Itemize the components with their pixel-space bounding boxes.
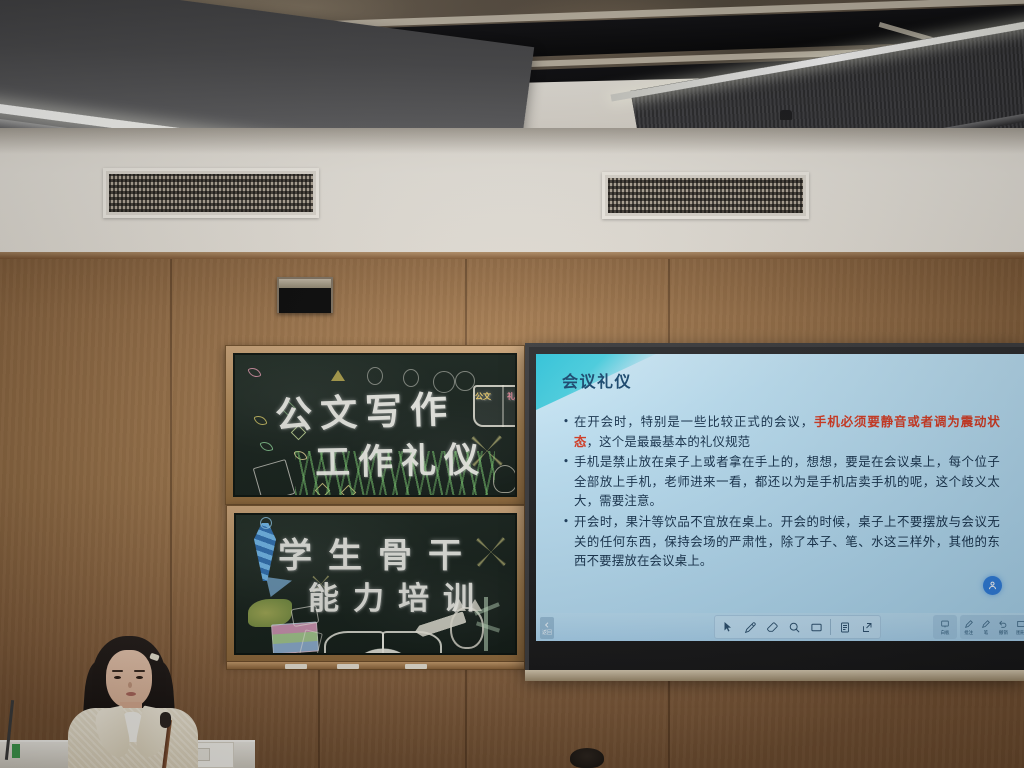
vent-grille — [608, 178, 803, 213]
list-item: • 开会时，果汁等饮品不宜放在桌上。开会的时候，桌子上不要摆放与会议无关的任何东… — [558, 512, 1000, 571]
annotate-icon — [964, 619, 974, 629]
bullet-text-1: 在开会时，特别是一些比较正式的会议，手机必须要静音或者调为震动状态，这个是最最基… — [574, 412, 1000, 451]
chalk-tray — [226, 661, 525, 670]
shape-icon — [1016, 619, 1024, 629]
pen2-tool[interactable]: 笔 — [977, 615, 994, 639]
page-icon — [839, 621, 851, 634]
toolbar-back-label: 返回 — [542, 629, 552, 636]
toolbar-mode-group[interactable]: 白板 — [933, 615, 957, 639]
chalkboard-bottom-line1: 学生骨干 — [278, 528, 478, 577]
toolbar-annotation-group[interactable]: 批注 笔 撤销 图形 清 — [960, 615, 1024, 639]
pen-icon — [744, 621, 757, 634]
bullet-marker: • — [558, 512, 574, 532]
wall-mounted-speaker — [277, 277, 333, 313]
balloon-doodle — [455, 371, 475, 391]
pen2-label: 笔 — [984, 630, 988, 636]
shape-label: 图形 — [1016, 630, 1024, 636]
assistant-person-icon — [987, 580, 998, 591]
whiteboard-bottom-rail — [525, 670, 1024, 681]
cursor-tool[interactable] — [717, 616, 739, 638]
student-presenter — [62, 636, 202, 768]
list-item: • 手机是禁止放在桌子上或者拿在手上的，想想，要是在会议桌上，每个位子全部放上手… — [558, 452, 1000, 511]
spotlight-tool[interactable] — [805, 616, 827, 638]
whiteboard-icon — [940, 619, 950, 629]
annotate-tool[interactable]: 批注 — [960, 615, 977, 639]
microphone-head — [160, 712, 171, 728]
eraser-icon — [766, 621, 779, 634]
book-label-right: 礼仪 — [507, 392, 517, 401]
nose — [128, 682, 132, 688]
magnifier-tool[interactable] — [783, 616, 805, 638]
green-marker-object — [12, 744, 20, 758]
chalkboard-top-surface: 公文 礼仪 公文写作 工作礼仪 — [233, 353, 517, 497]
foreground-object — [570, 748, 604, 768]
slide-bullet-list: • 在开会时，特别是一些比较正式的会议，手机必须要静音或者调为震动状态，这个是最… — [558, 412, 1000, 572]
toolbar-main-group[interactable] — [714, 615, 881, 639]
undo-tool[interactable]: 撤销 — [995, 615, 1012, 639]
eyebrow-right — [134, 670, 145, 672]
interactive-whiteboard[interactable]: 会议礼仪 • 在开会时，特别是一些比较正式的会议，手机必须要静音或者调为震动状态… — [525, 343, 1024, 675]
face — [106, 650, 152, 708]
book-label-left: 公文 — [475, 392, 491, 401]
left-air-vent — [103, 168, 319, 218]
toolbar-separator — [830, 619, 831, 635]
vent-grille — [109, 174, 313, 212]
speaker-top-bar — [279, 279, 331, 288]
search-icon — [788, 621, 801, 634]
bullet-text-2: 手机是禁止放在桌子上或者拿在手上的，想想，要是在会议桌上，每个位子全部放上手机，… — [574, 452, 1000, 511]
chalkboard-bottom: 学生骨干 能力培训 — [226, 505, 525, 663]
chalkboard-bottom-line2: 能力培训 — [308, 573, 488, 618]
shape-tool[interactable]: 图形 — [1012, 615, 1024, 639]
slide-title: 会议礼仪 — [562, 368, 632, 392]
chalkboard-top-line1: 公文写作 — [274, 379, 456, 439]
bullet-marker: • — [558, 412, 574, 432]
annotate-label: 批注 — [964, 630, 973, 636]
undo-icon — [998, 619, 1008, 629]
whiteboard-mode-label: 白板 — [941, 630, 950, 636]
smoke-detector-icon — [780, 110, 792, 120]
assistant-fab-icon[interactable] — [983, 576, 1002, 595]
whiteboard-mode-button[interactable]: 白板 — [933, 615, 957, 639]
bullet-marker: • — [558, 452, 574, 472]
chalk-stick — [285, 664, 307, 669]
pen-icon — [981, 619, 991, 629]
smartboard-toolbar[interactable]: 返回 — [536, 613, 1024, 641]
bullet-1-seg-3: ，这个是最最基本的礼仪规范 — [587, 434, 751, 449]
mouth — [126, 692, 136, 696]
rectangle-icon — [810, 621, 823, 634]
speaker-grille — [279, 288, 331, 313]
bullet-text-3: 开会时，果汁等饮品不宜放在桌上。开会的时候，桌子上不要摆放与会议无关的任何东西，… — [574, 512, 1000, 571]
chalk-stick — [405, 664, 427, 669]
chalk-stick — [337, 664, 359, 669]
share-tool[interactable] — [856, 616, 878, 638]
chalkboard-top: 公文 礼仪 公文写作 工作礼仪 — [225, 345, 525, 505]
presentation-screen[interactable]: 会议礼仪 • 在开会时，特别是一些比较正式的会议，手机必须要静音或者调为震动状态… — [536, 354, 1024, 641]
lecture-hall-photo: 公文 礼仪 公文写作 工作礼仪 — [0, 0, 1024, 768]
list-item: • 在开会时，特别是一些比较正式的会议，手机必须要静音或者调为震动状态，这个是最… — [558, 412, 1000, 451]
right-air-vent — [602, 172, 809, 219]
chalkboard-bottom-surface: 学生骨干 能力培训 — [234, 513, 517, 655]
cursor-icon — [722, 621, 734, 633]
pen-tool[interactable] — [739, 616, 761, 638]
upper-wall-shadow — [0, 128, 1024, 154]
bullet-1-seg-1: 在开会时，特别是一些比较正式的会议， — [574, 414, 814, 429]
lightbulb-doodle — [493, 465, 517, 493]
star-doodle — [331, 370, 345, 381]
eraser-tool[interactable] — [761, 616, 783, 638]
tie-knot-doodle — [260, 517, 272, 529]
page-tool[interactable] — [834, 616, 856, 638]
chevron-left-icon — [543, 621, 551, 629]
toolbar-back-badge[interactable]: 返回 — [540, 617, 554, 639]
share-icon — [861, 621, 873, 634]
undo-label: 撤销 — [999, 630, 1008, 636]
eyebrow-left — [112, 670, 123, 672]
chalkboard-top-line2: 工作礼仪 — [315, 432, 488, 486]
